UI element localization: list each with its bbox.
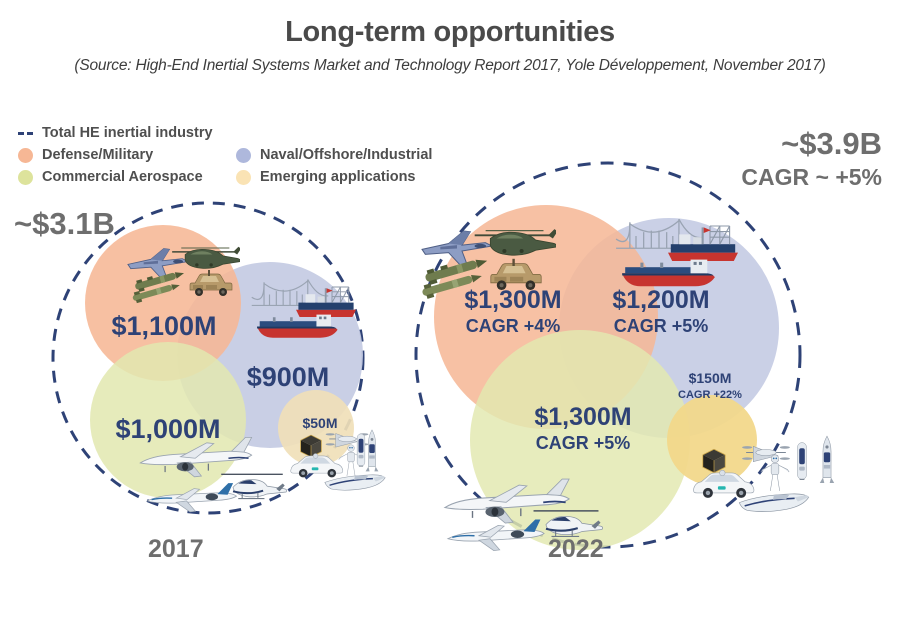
page-title: Long-term opportunities <box>0 16 900 49</box>
value-defense-2017: $1,100M <box>111 311 216 341</box>
value-emerging-2017: $50M <box>302 415 337 431</box>
robot-icon <box>761 455 789 491</box>
cagr-defense-2022: CAGR +4% <box>466 316 561 336</box>
cagr-aerospace-2022: CAGR +5% <box>536 433 631 453</box>
value-naval-2017: $900M <box>247 362 330 392</box>
venn-2017: $1,100M $900M $1,000M $50M <box>53 203 385 513</box>
illustration-emerging-2017 <box>291 430 385 490</box>
value-defense-2022: $1,300M <box>464 286 561 314</box>
venn-diagrams: $1,100M $900M $1,000M $50M <box>0 95 900 585</box>
value-aerospace-2022: $1,300M <box>534 403 631 431</box>
submarine-icon <box>357 434 365 466</box>
autonomous-boat-icon <box>325 475 385 490</box>
year-label-2022: 2022 <box>548 535 604 564</box>
venn-2022: $1,300M CAGR +4% $1,200M CAGR +5% $1,300… <box>416 163 834 551</box>
source-line: (Source: High-End Inertial Systems Marke… <box>0 57 900 75</box>
cube-sensor-icon <box>301 435 322 457</box>
cagr-naval-2022: CAGR +5% <box>614 316 709 336</box>
year-label-2017: 2017 <box>148 535 204 564</box>
value-emerging-2022: $150M <box>689 370 732 386</box>
value-aerospace-2017: $1,000M <box>115 414 220 444</box>
value-naval-2022: $1,200M <box>612 286 709 314</box>
submarine-icon <box>798 443 807 480</box>
infographic-page: Long-term opportunities (Source: High-En… <box>0 0 900 630</box>
cagr-emerging-2022: CAGR +22% <box>678 389 742 401</box>
autonomous-boat-icon <box>739 494 808 512</box>
cube-sensor-icon <box>703 449 725 473</box>
rocket-icon <box>820 436 834 483</box>
rocket-icon <box>366 430 379 472</box>
